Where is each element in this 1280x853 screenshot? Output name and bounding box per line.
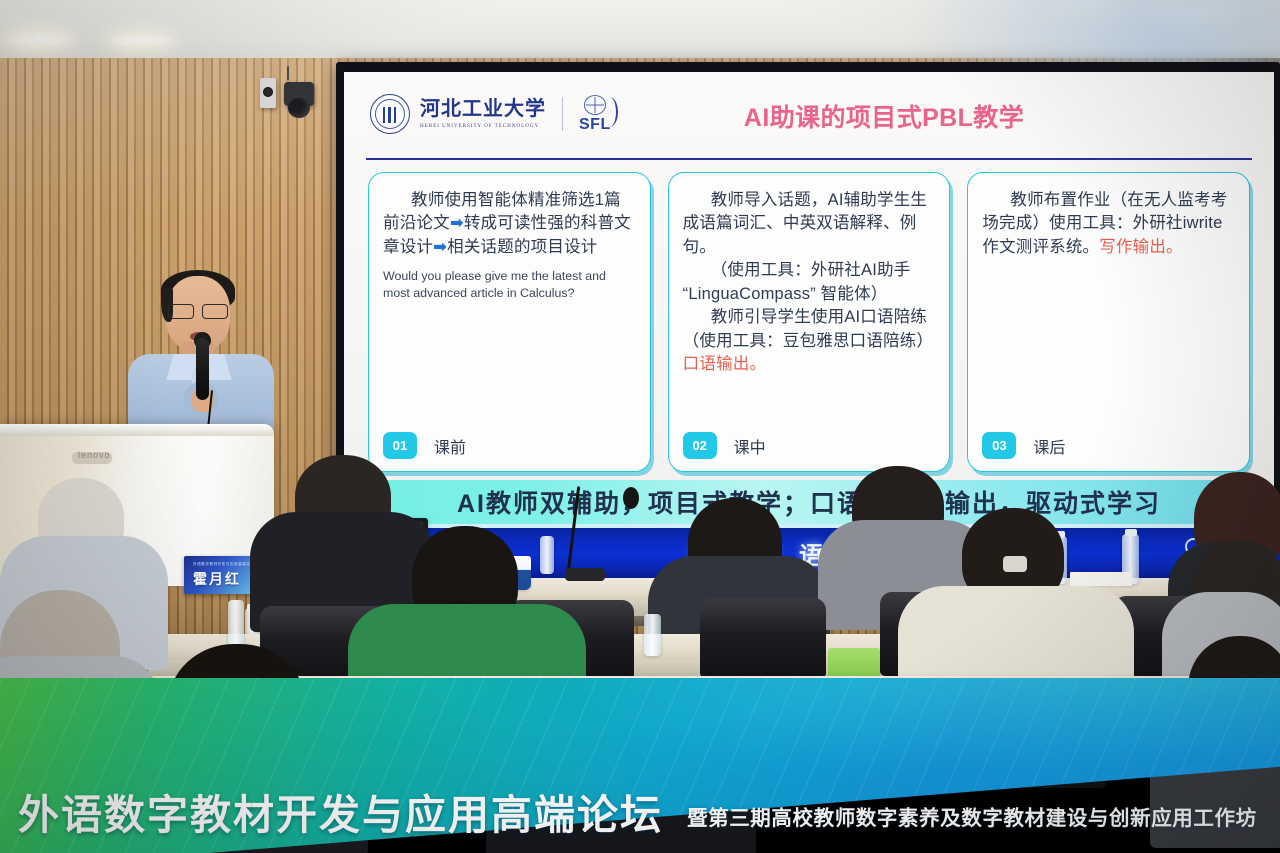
podium-brand-text: lenovo: [78, 450, 111, 460]
bottle-cap: [482, 718, 496, 727]
card-text-line: 教师导入话题，AI辅助学生生成语篇词汇、中英双语解释、例句。: [683, 189, 936, 259]
card-text-line: 教师布置作业（在无人监考考场完成）使用工具：外研社iwrite作文测评系统。写作…: [982, 189, 1235, 259]
slide-summary-text: AI教师双辅助，项目式教学；口语写作双输出，驱动式学习: [457, 484, 1161, 520]
card-stage-label: 课后: [1033, 434, 1065, 458]
card-number-badge: 02: [683, 432, 717, 459]
card-number-badge: 01: [383, 432, 417, 459]
hair-clip-icon: [1003, 556, 1027, 572]
card-stage-label: 课前: [434, 434, 466, 458]
arrow-right-icon: ➡: [433, 238, 447, 256]
chair: [700, 598, 826, 678]
event-sub-title: 暨第三期高校教师数字素养及数字教材建设与创新应用工作坊: [687, 801, 1257, 831]
event-main-title: 外语数字教材开发与应用高端论坛: [18, 781, 663, 841]
footer-text-block: 外语数字教材开发与应用高端论坛 暨第三期高校教师数字素养及数字教材建设与创新应用…: [0, 773, 1280, 853]
camera-antenna-icon: [287, 66, 289, 80]
ceiling-downlight: [110, 32, 172, 48]
card-highlight: 口语输出。: [683, 355, 767, 373]
card-highlight: 写作输出。: [1099, 238, 1183, 256]
card-number-badge: 03: [982, 432, 1016, 459]
wall-camera-mount: [260, 78, 276, 108]
card-footer: 01 课前: [383, 432, 466, 459]
stage-card: 教师使用智能体精准筛选1篇前沿论文➡转成可读性强的科普文章设计➡相关话题的项目设…: [368, 172, 651, 472]
card-text-line: 教师引导学生使用AI口语陪练（使用工具：豆包雅思口语陪练）口语输出。: [683, 306, 936, 376]
arrow-right-icon: ➡: [450, 214, 464, 232]
water-bottle: [228, 600, 244, 646]
paper-sheet: [1070, 572, 1132, 586]
stage-cards: 教师使用智能体精准筛选1篇前沿论文➡转成可读性强的科普文章设计➡相关话题的项目设…: [368, 172, 1250, 472]
card-text-line: 教师使用智能体精准筛选1篇前沿论文➡转成可读性强的科普文章设计➡相关话题的项目设…: [383, 189, 636, 259]
presentation-screen: 河北工业大学 HEBEI UNIVERSITY OF TECHNOLOGY SF…: [344, 72, 1274, 572]
ptz-camera-lens: [288, 98, 310, 118]
card-english-prompt: Would you please give me the latest and …: [383, 268, 636, 302]
slide-title: AI助课的项目式PBL教学: [344, 98, 1274, 134]
bottle-cap: [900, 724, 915, 733]
bottle-cap: [1125, 529, 1137, 536]
slide-summary-strip: AI教师双辅助，项目式教学；口语写作双输出，驱动式学习: [368, 480, 1250, 524]
card-footer: 03 课后: [982, 432, 1065, 459]
stage-card: 教师布置作业（在无人监考考场完成）使用工具：外研社iwrite作文测评系统。写作…: [967, 172, 1250, 472]
ceiling-downlight: [8, 30, 70, 48]
desk-microphone-head-icon: [623, 487, 639, 509]
card-body: 教师使用智能体精准筛选1篇前沿论文➡转成可读性强的科普文章设计➡相关话题的项目设…: [383, 189, 636, 259]
card-body: 教师布置作业（在无人监考考场完成）使用工具：外研社iwrite作文测评系统。写作…: [982, 189, 1235, 259]
desk-microphone-base: [565, 568, 605, 581]
card-footer: 02 课中: [683, 432, 766, 459]
header-rule: [366, 158, 1252, 160]
podium-top-surface: [0, 424, 274, 436]
water-bottle: [644, 614, 661, 656]
water-bottle: [540, 536, 554, 574]
presentation-room-photo: 河北工业大学 HEBEI UNIVERSITY OF TECHNOLOGY SF…: [0, 0, 1280, 853]
card-stage-label: 课中: [734, 434, 766, 458]
card-body: 教师导入话题，AI辅助学生生成语篇词汇、中英双语解释、例句。 （使用工具：外研社…: [683, 189, 936, 376]
card-text-line: （使用工具：外研社AI助手 “LinguaCompass” 智能体）: [683, 259, 936, 306]
slide-header: 河北工业大学 HEBEI UNIVERSITY OF TECHNOLOGY SF…: [344, 72, 1274, 158]
stage-card: 教师导入话题，AI辅助学生生成语篇词汇、中英双语解释、例句。 （使用工具：外研社…: [668, 172, 951, 472]
glasses-icon: [168, 304, 228, 317]
water-bottle: [478, 724, 500, 778]
presenter: [120, 276, 280, 436]
microphone-icon: [196, 338, 209, 400]
